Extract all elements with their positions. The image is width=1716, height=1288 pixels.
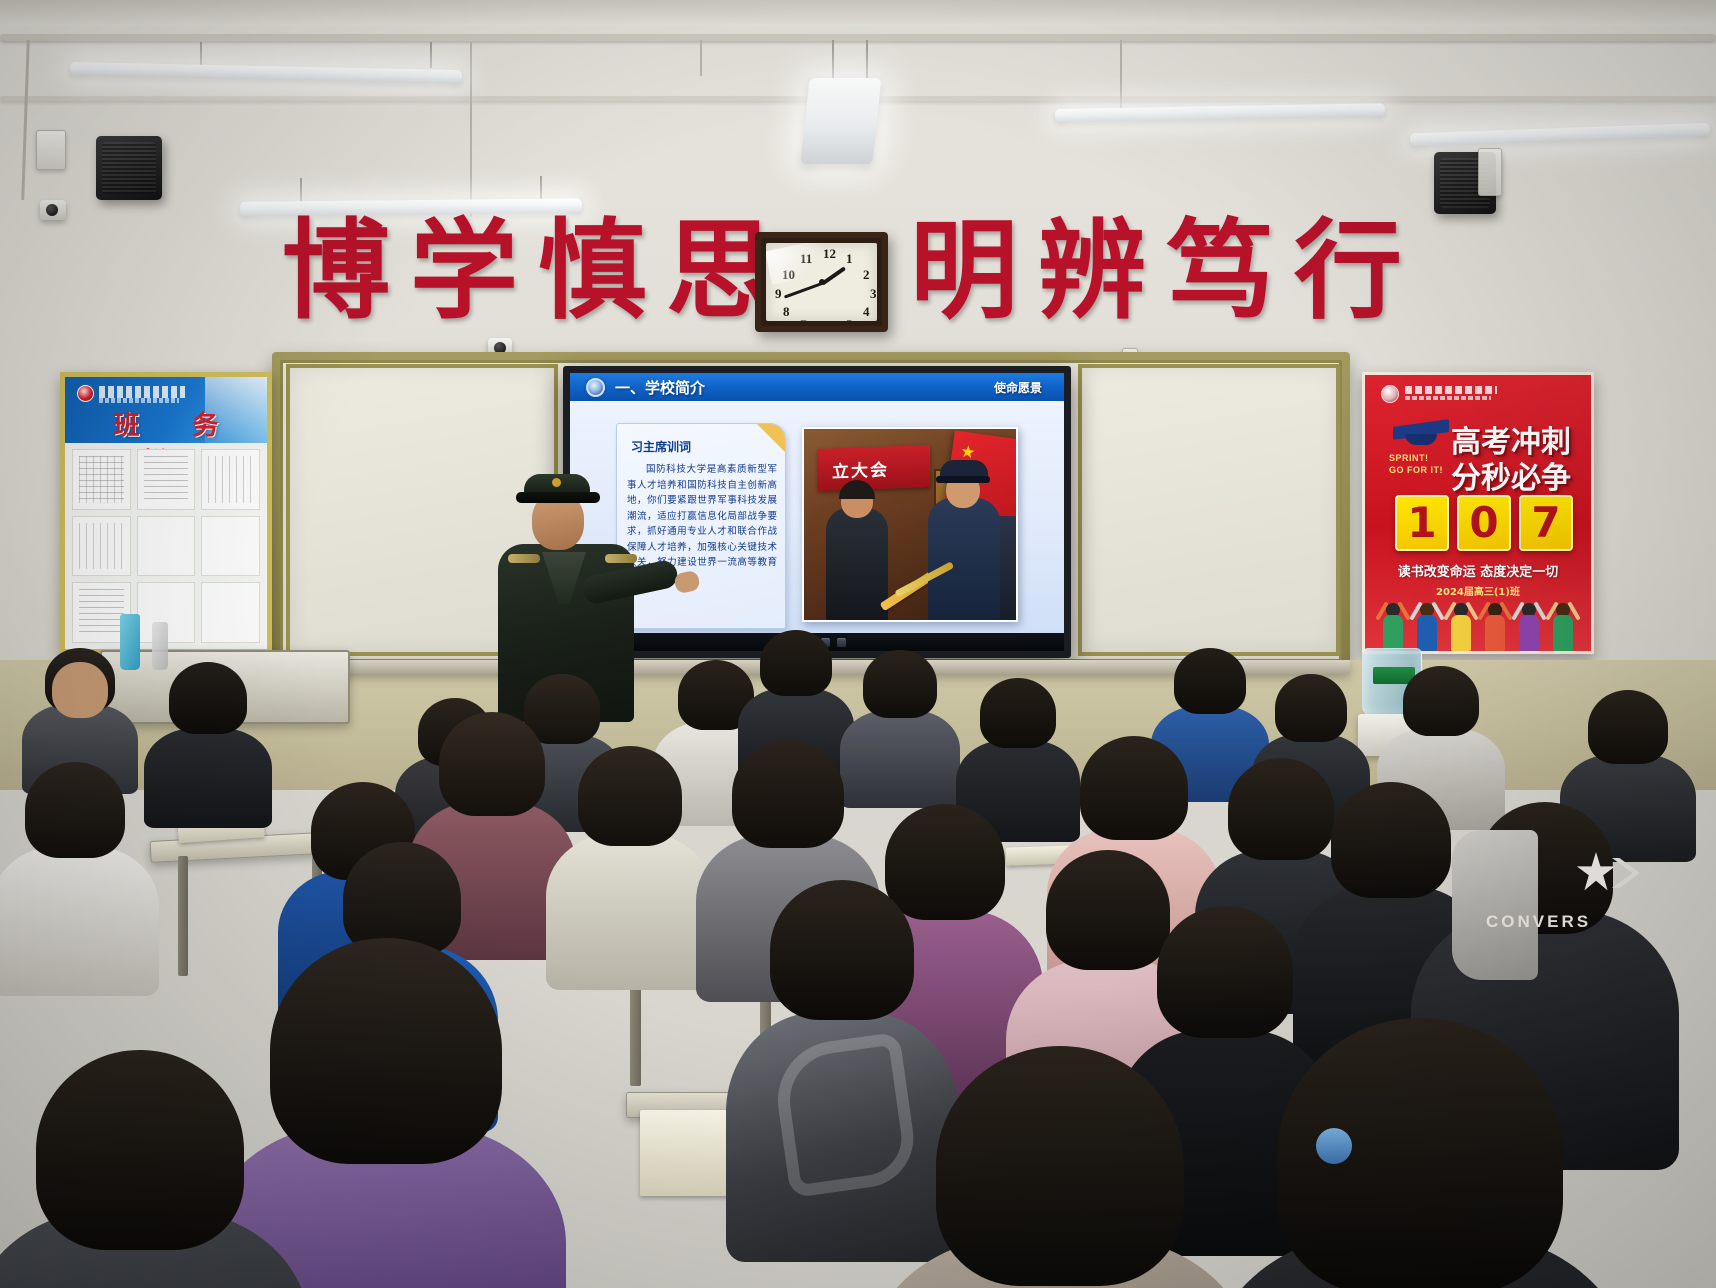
wall-bracket — [1478, 148, 1502, 196]
clock-numeral: 3 — [870, 286, 877, 302]
duty-chart-cell — [72, 449, 131, 510]
graduation-cap-icon — [1393, 423, 1449, 445]
cap-badge-icon — [552, 478, 561, 487]
student-foreground-far-right — [1240, 1018, 1600, 1288]
slide-header-bar: 一、学校简介 使命愿景 — [570, 373, 1064, 401]
pendant-light — [805, 78, 877, 164]
light-hanger — [430, 42, 432, 68]
light-hanger — [540, 176, 542, 200]
poster-english-line1: SPRINT! — [1389, 453, 1429, 463]
school-name-text — [99, 386, 185, 398]
whiteboard-panel-right[interactable] — [1078, 364, 1340, 656]
countdown-digit: 1 — [1395, 495, 1449, 551]
student-foreground-far-left — [0, 1050, 280, 1288]
duty-chart-cell — [137, 449, 196, 510]
student — [26, 644, 134, 774]
clock-numeral: 8 — [783, 304, 790, 320]
hanging-wire — [470, 42, 472, 217]
school-logo-icon — [1381, 385, 1399, 403]
student — [0, 762, 150, 952]
student-foreground-right — [900, 1046, 1220, 1288]
seated-students: CONVERS — [0, 620, 1716, 1288]
slide-photo: 立大会 ★ — [802, 427, 1018, 622]
hanging-wire — [1120, 40, 1122, 110]
clock-numeral: 1 — [846, 251, 853, 267]
slogan-char: 笃 — [1156, 212, 1284, 332]
gaokao-countdown-poster: SPRINT! GO FOR IT! 高考冲刺 分秒必争 1 0 7 读书改变命… — [1362, 372, 1594, 654]
clock-numeral: 4 — [863, 304, 870, 320]
duty-chart-cell — [137, 516, 196, 577]
page-corner-fold-icon — [756, 423, 786, 453]
slogan-char: 慎 — [528, 212, 656, 332]
wall-clock: 12 1 2 3 4 5 6 7 8 9 10 11 — [755, 232, 888, 332]
converse-wordmark: CONVERS — [1486, 912, 1686, 932]
duty-chart-cell — [72, 516, 131, 577]
slogan-char: 博 — [272, 212, 400, 332]
duty-chart-cell — [201, 516, 260, 577]
left-speaker — [96, 136, 162, 200]
duty-chart-cell — [201, 449, 260, 510]
photo-red-banner: 立大会 — [818, 445, 930, 491]
slogan-char: 行 — [1284, 212, 1412, 332]
student — [556, 746, 704, 942]
slide-title: 一、学校简介 — [615, 377, 705, 398]
school-name-subtext — [99, 398, 179, 403]
officer-cap — [516, 474, 600, 504]
pendant-hanger — [832, 40, 834, 82]
school-name-text — [1405, 386, 1497, 394]
slogan-char: 学 — [400, 212, 528, 332]
wall-switch-box[interactable] — [36, 130, 66, 170]
duty-chart-grid — [72, 449, 260, 643]
countdown-digits: 1 0 7 — [1395, 495, 1573, 551]
photo-person-official — [826, 508, 888, 620]
student-foreground-left — [236, 938, 536, 1288]
clock-face: 12 1 2 3 4 5 6 7 8 9 10 11 — [766, 243, 877, 321]
slide-header-right-label: 使命愿景 — [994, 379, 1042, 396]
ceiling-conduit — [0, 34, 1716, 41]
student — [744, 630, 848, 758]
student — [150, 662, 266, 802]
wall-slogan-left: 博学慎思 — [272, 212, 784, 332]
photo-person-officer — [928, 498, 1000, 620]
school-emblem-icon — [586, 378, 605, 397]
light-hanger — [300, 178, 302, 202]
clock-numeral: 5 — [846, 317, 853, 321]
poster-english-line2: GO FOR IT! — [1389, 465, 1443, 475]
clock-center-pin — [819, 279, 825, 285]
countdown-digit: 0 — [1457, 495, 1511, 551]
clock-minute-hand — [783, 282, 822, 298]
clock-numeral: 2 — [863, 267, 870, 283]
ceiling-edge — [0, 0, 1716, 26]
officer-epaulette-left — [508, 554, 540, 563]
school-logo-icon — [77, 385, 94, 402]
poster-subtitle: 读书改变命运 态度决定一切 — [1365, 561, 1591, 580]
hood-lining — [1452, 830, 1538, 980]
wall-slogan-right: 明辨笃行 — [900, 212, 1412, 332]
countdown-digit: 7 — [1519, 495, 1573, 551]
pendant-hanger — [866, 40, 868, 82]
hair-tie-accessory — [1316, 1128, 1352, 1164]
ceiling-camera — [40, 200, 66, 220]
poster-headline-line2: 分秒必争 — [1451, 453, 1571, 497]
class-duty-board: 班 务 栏 — [60, 372, 272, 654]
clock-numeral: 7 — [800, 317, 807, 321]
clock-numeral: 9 — [775, 286, 782, 302]
slogan-char: 明 — [900, 212, 1028, 332]
hanging-wire — [700, 40, 702, 76]
classroom-photo: 博学慎思 明辨笃行 12 1 2 3 4 5 6 7 8 9 10 11 — [0, 0, 1716, 1288]
quote-card-title: 习主席训词 — [631, 438, 691, 455]
slogan-char: 辨 — [1028, 212, 1156, 332]
officer-epaulette-right — [605, 554, 637, 563]
school-name-subtext — [1405, 396, 1491, 400]
photo-banner-text: 立大会 — [832, 455, 889, 482]
